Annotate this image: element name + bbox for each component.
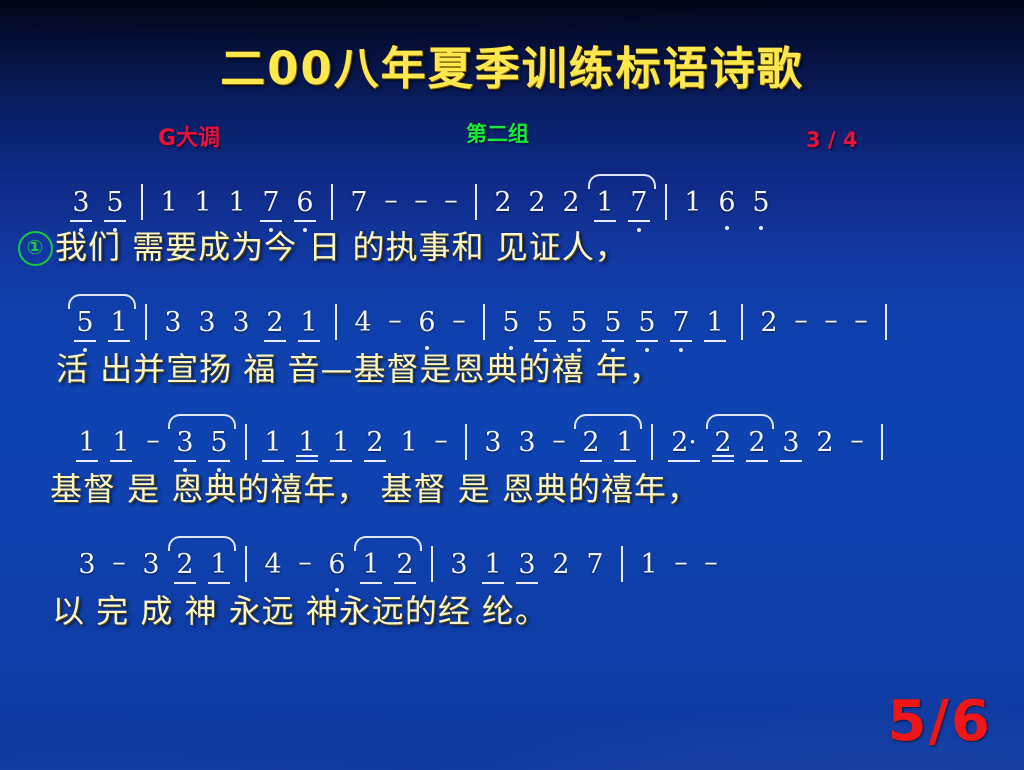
note-3: 3 [514, 429, 540, 466]
slur-group: 22 [706, 427, 774, 466]
lyrics-row-1: ①我们 需要成为今 日 的执事和 见证人， [0, 222, 1024, 268]
presentation-slide: 二00八年夏季训练标语诗歌 G大调 第二组 3 / 4 35111767–––2… [0, 0, 1024, 770]
duration-dash: – [816, 305, 846, 346]
key-signature-label: G大调 [158, 120, 220, 152]
music-system-1: 35111767–––22217165 ①我们 需要成为今 日 的执事和 见证人… [0, 178, 1024, 268]
lyrics-row-3: 基督 是 恩典的禧年， 基督 是 恩典的禧年， [0, 464, 1024, 510]
octave-dot-low [611, 348, 615, 352]
note-7-low: 7 [626, 189, 652, 226]
octave-dot-low [269, 228, 273, 232]
octave-dot-low [577, 348, 581, 352]
note-6-low: 6 [414, 309, 440, 346]
verse-number-badge: ① [18, 231, 53, 266]
note-1: 1 [612, 429, 638, 466]
note-4: 4 [260, 551, 286, 588]
barline [483, 304, 485, 340]
note-7-low: 7 [668, 309, 694, 346]
duration-dash: – [666, 547, 696, 588]
note-1: 1 [224, 189, 250, 226]
note-3: 3 [160, 309, 186, 346]
note-2: 2 [362, 429, 388, 466]
note-5-low: 5 [102, 189, 128, 226]
note-3: 3 [228, 309, 254, 346]
note-2: 2 [392, 551, 418, 588]
note-5-low: 5 [748, 189, 774, 226]
octave-dot-low [303, 228, 307, 232]
note-1: 1 [294, 429, 320, 466]
music-system-4: 3–3214–612313271–– 以 完 成 神 永远 神永远的经 纶。 [0, 540, 1024, 632]
slur-group: 12 [354, 549, 422, 588]
duration-dash: – [444, 305, 474, 346]
note-1: 1 [108, 429, 134, 466]
barline [621, 546, 623, 582]
notation-row-1: 35111767–––22217165 [0, 178, 1024, 226]
note-1: 1 [190, 189, 216, 226]
music-system-2: 51333214–6–55555712––– 活 出并宣扬 福 音—基督是恩典的… [0, 298, 1024, 390]
duration-dash: – [376, 185, 406, 226]
barline [881, 424, 883, 460]
slur-group: 17 [588, 187, 656, 226]
note-1: 1 [206, 551, 232, 588]
note-1: 1 [260, 429, 286, 466]
octave-dot-low [759, 226, 763, 230]
notation-row-4: 3–3214–612313271–– [0, 540, 1024, 588]
barline [431, 546, 433, 582]
duration-dash: – [786, 305, 816, 346]
note-7: 7 [346, 189, 372, 226]
lyrics-row-2: 活 出并宣扬 福 音—基督是恩典的禧 年， [0, 344, 1024, 390]
note-1: 1 [328, 429, 354, 466]
slur-group: 21 [168, 549, 236, 588]
note-3: 3 [138, 551, 164, 588]
note-4: 4 [350, 309, 376, 346]
music-system-3: 11–3511121–33–212·2232– 基督 是 恩典的禧年， 基督 是… [0, 418, 1024, 510]
note-5-low: 5 [498, 309, 524, 346]
duration-dash: – [406, 185, 436, 226]
notation-row-3: 11–3511121–33–212·2232– [0, 418, 1024, 466]
note-5-low: 5 [72, 309, 98, 346]
barline [245, 424, 247, 460]
note-1: 1 [480, 551, 506, 588]
note-2: 2 [756, 309, 782, 346]
note-6-low: 6 [292, 189, 318, 226]
note-3-low: 3 [68, 189, 94, 226]
octave-dot-low [183, 468, 187, 472]
barline [141, 184, 143, 220]
note-3: 3 [480, 429, 506, 466]
lyrics-row-4: 以 完 成 神 永远 神永远的经 纶。 [0, 586, 1024, 632]
barline [331, 184, 333, 220]
note-3: 3 [514, 551, 540, 588]
octave-dot-low [425, 346, 429, 350]
octave-dot-low [79, 228, 83, 232]
duration-dash: – [138, 425, 168, 466]
barline [465, 424, 467, 460]
note-1: 1 [592, 189, 618, 226]
slur-group: 51 [68, 307, 136, 346]
note-2: 2 [262, 309, 288, 346]
barline [475, 184, 477, 220]
barline [145, 304, 147, 340]
slur-group: 21 [574, 427, 642, 466]
note-2: 2 [578, 429, 604, 466]
background-sheen-top [0, 0, 1024, 200]
duration-dash: – [846, 305, 876, 346]
note-5-low: 5 [566, 309, 592, 346]
note-2: 2 [524, 189, 550, 226]
octave-dot-low [113, 228, 117, 232]
barline [885, 304, 887, 340]
barline [651, 424, 653, 460]
note-1: 1 [358, 551, 384, 588]
octave-dot-low [637, 228, 641, 232]
note-2: 2 [490, 189, 516, 226]
duration-dash: – [104, 547, 134, 588]
note-2: 2 [812, 429, 838, 466]
note-3: 3 [446, 551, 472, 588]
note-5-low: 5 [634, 309, 660, 346]
octave-dot-low [509, 346, 513, 350]
octave-dot-low [335, 588, 339, 592]
note-5-low: 5 [532, 309, 558, 346]
barline [335, 304, 337, 340]
note-7-low: 7 [258, 189, 284, 226]
note-3: 3 [74, 551, 100, 588]
note-2: 2· [666, 429, 702, 466]
note-1: 1 [106, 309, 132, 346]
time-signature-label: 3 / 4 [806, 128, 858, 152]
duration-dash: – [436, 185, 466, 226]
note-2: 2 [548, 551, 574, 588]
note-6-low: 6 [324, 551, 350, 588]
octave-dot-low [83, 348, 87, 352]
note-3-low: 3 [172, 429, 198, 466]
note-1: 1 [636, 551, 662, 588]
notation-row-2: 51333214–6–55555712––– [0, 298, 1024, 346]
note-1: 1 [396, 429, 422, 466]
note-1: 1 [74, 429, 100, 466]
octave-dot-low [645, 348, 649, 352]
duration-dash: – [696, 547, 726, 588]
octave-dot-low [543, 348, 547, 352]
group-label: 第二组 [466, 118, 529, 148]
note-7: 7 [582, 551, 608, 588]
note-2: 2 [710, 429, 736, 466]
note-2: 2 [172, 551, 198, 588]
duration-dash: – [380, 305, 410, 346]
barline [665, 184, 667, 220]
note-2: 2 [744, 429, 770, 466]
note-3: 3 [778, 429, 804, 466]
barline [741, 304, 743, 340]
lyrics-text-1: 我们 需要成为今 日 的执事和 见证人， [55, 228, 628, 266]
duration-dash: – [544, 425, 574, 466]
slur-group: 35 [168, 427, 236, 466]
octave-dot-low [725, 226, 729, 230]
note-5-low: 5 [206, 429, 232, 466]
page-number: 5/6 [888, 689, 992, 754]
slide-title: 二00八年夏季训练标语诗歌 [0, 32, 1024, 97]
note-3: 3 [194, 309, 220, 346]
duration-dash: – [842, 425, 872, 466]
barline [245, 546, 247, 582]
note-1: 1 [296, 309, 322, 346]
note-5-low: 5 [600, 309, 626, 346]
note-1: 1 [156, 189, 182, 226]
note-1: 1 [680, 189, 706, 226]
note-2: 2 [558, 189, 584, 226]
octave-dot-low [679, 348, 683, 352]
duration-dash: – [290, 547, 320, 588]
note-6-low: 6 [714, 189, 740, 226]
note-1: 1 [702, 309, 728, 346]
duration-dash: – [426, 425, 456, 466]
octave-dot-low [217, 468, 221, 472]
